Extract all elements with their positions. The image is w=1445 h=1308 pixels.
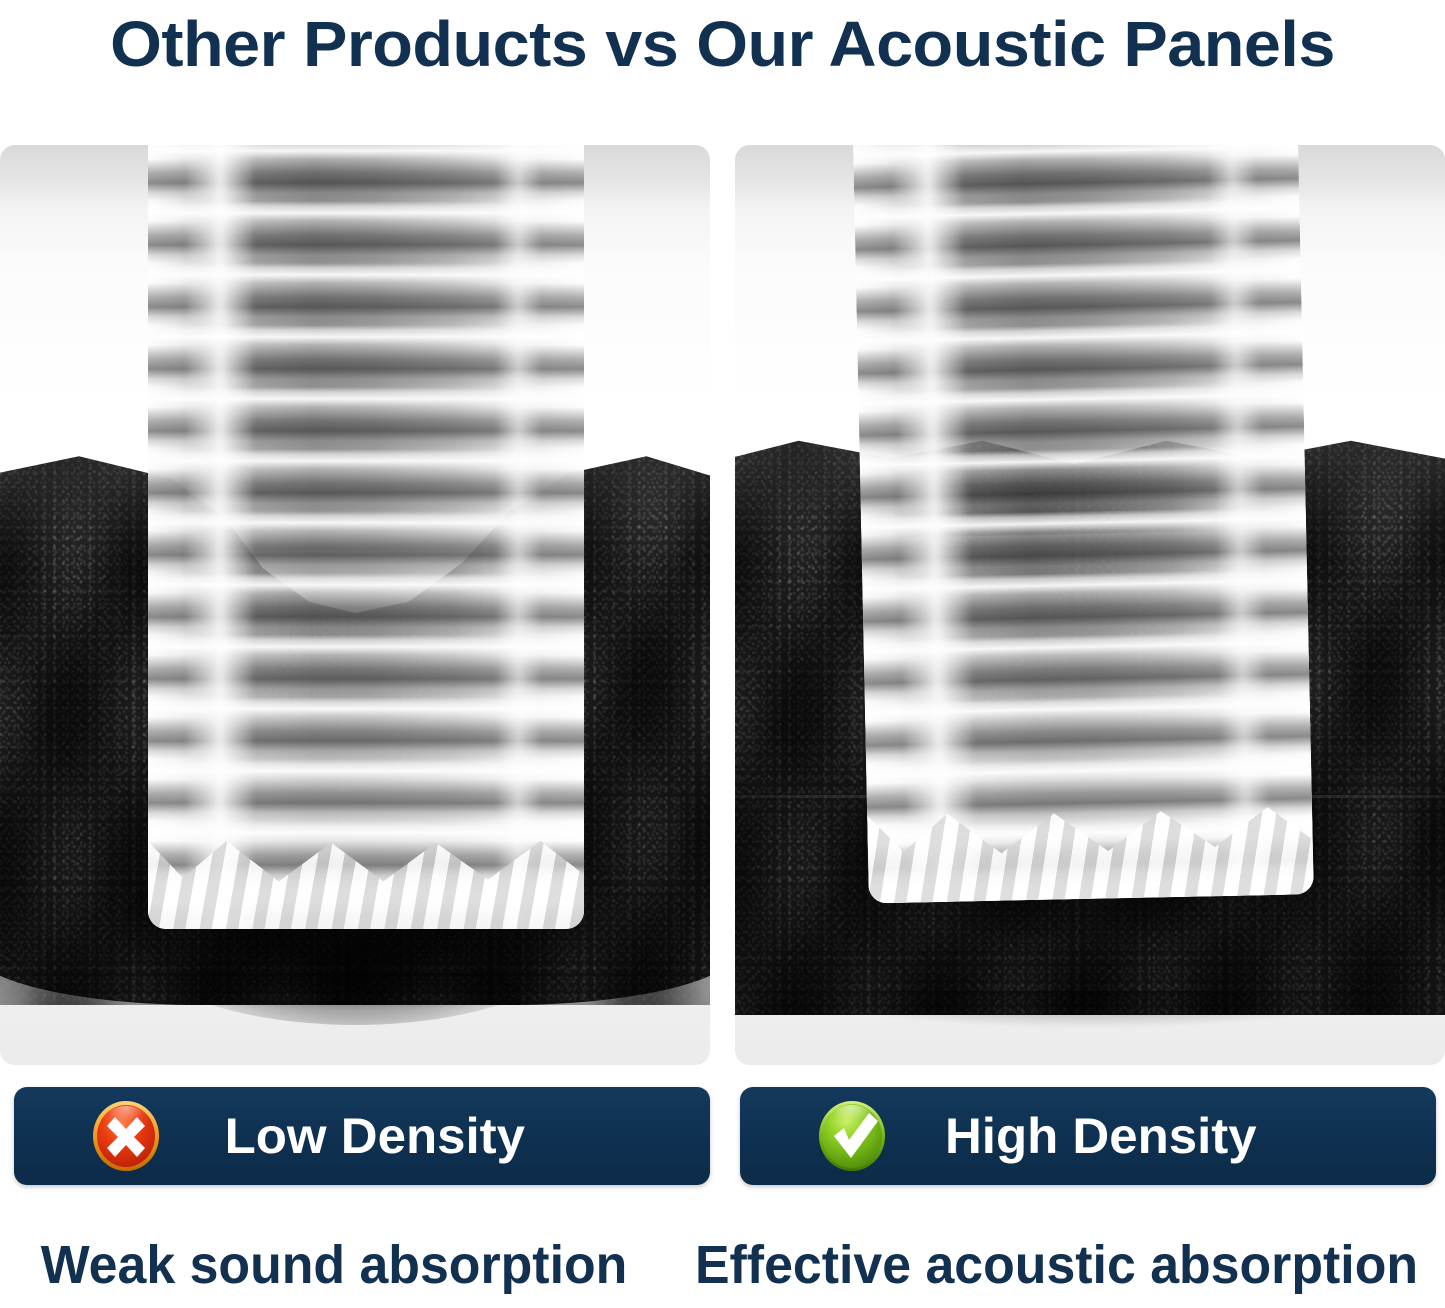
badge-low-density: Low Density (14, 1087, 710, 1185)
foam-contact-shadow (735, 991, 1445, 1043)
photo-low-density (0, 145, 710, 1065)
bottle-highlight-secondary (497, 145, 541, 929)
water-bottle (853, 145, 1314, 903)
panel-low-density (0, 145, 710, 1065)
cross-circle-icon (90, 1098, 162, 1174)
badge-label-low-density: Low Density (157, 1107, 716, 1165)
bottle-highlight (187, 145, 252, 929)
check-circle-icon (816, 1098, 888, 1174)
badge-label-high-density: High Density (883, 1107, 1442, 1165)
comparison-panels (0, 145, 1445, 1065)
captions-row: Weak sound absorption Effective acoustic… (0, 1228, 1445, 1308)
panel-high-density (735, 145, 1445, 1065)
badge-high-density: High Density (740, 1087, 1436, 1185)
page-title: Other Products vs Our Acoustic Panels (0, 0, 1445, 92)
photo-high-density (735, 145, 1445, 1065)
foam-contact-shadow (0, 973, 710, 1025)
caption-low-density: Weak sound absorption (13, 1228, 654, 1308)
water-bottle (148, 145, 584, 929)
caption-high-density: Effective acoustic absorption (684, 1228, 1430, 1308)
